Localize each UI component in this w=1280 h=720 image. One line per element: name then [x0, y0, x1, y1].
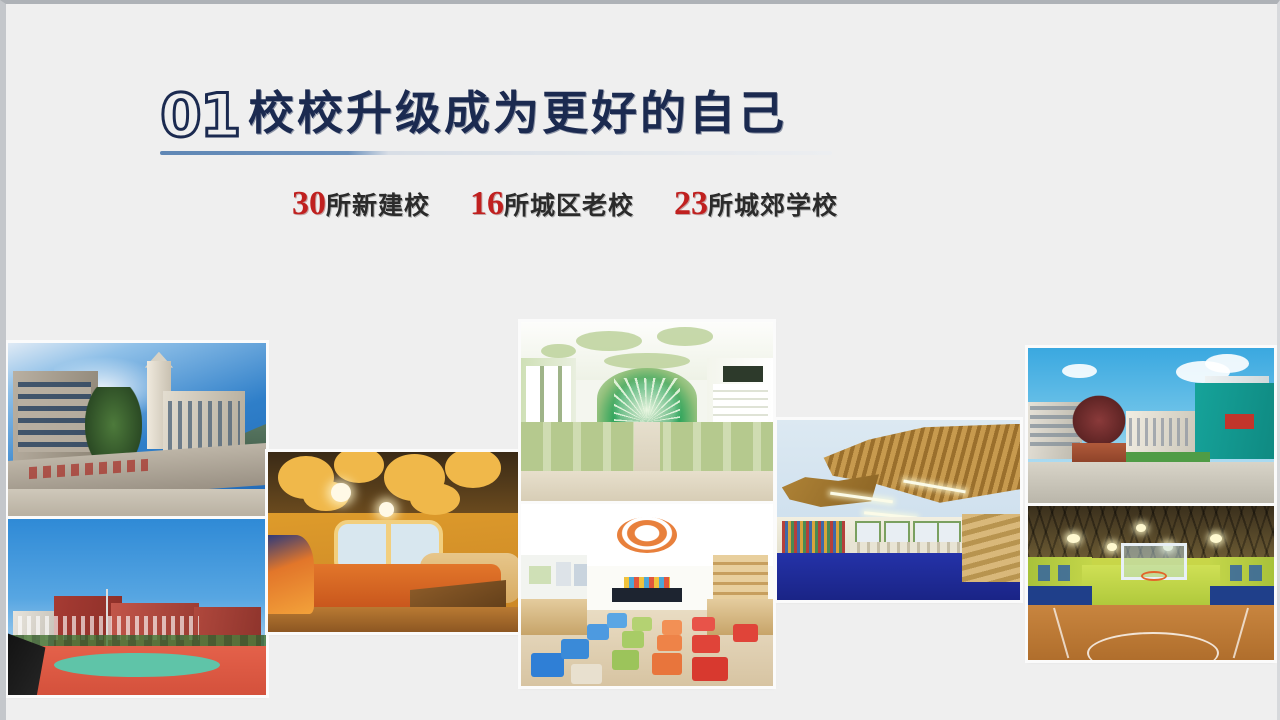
stat-label: 所新建校 [326, 193, 430, 220]
stat-number: 23 [674, 185, 708, 222]
stat-label: 所城区老校 [504, 193, 634, 220]
page-title: 校校升级成为更好的自己 [248, 88, 787, 140]
photo-library-wood-ceiling [777, 420, 1020, 600]
stat-number: 16 [470, 185, 504, 222]
slide-canvas: 01 校校升级成为更好的自己 30所新建校 16所城区老校 23所城郊学校 [0, 0, 1280, 720]
photo-red-brick-school-track [8, 519, 266, 695]
photo-colorful-reading-room [521, 504, 773, 686]
stats-row: 30所新建校 16所城区老校 23所城郊学校 [0, 185, 1130, 223]
photo-green-auditorium [521, 322, 773, 504]
stat-label: 所城郊学校 [708, 193, 838, 220]
section-number: 01 [160, 86, 240, 146]
slide-header: 01 校校升级成为更好的自己 30所新建校 16所城区老校 23所城郊学校 [0, 0, 1280, 240]
stat-item-new-schools: 30所新建校 [292, 185, 430, 223]
stat-item-suburban-schools: 23所城郊学校 [674, 185, 838, 223]
photo-school-exterior-tower [8, 343, 266, 519]
title-underline-rule [160, 151, 832, 155]
photo-indoor-gymnasium [1028, 506, 1274, 660]
stat-number: 30 [292, 185, 326, 222]
photo-orange-activity-room [268, 452, 521, 632]
photo-teal-campus-exterior [1028, 348, 1274, 506]
stat-item-urban-old-schools: 16所城区老校 [470, 185, 634, 223]
